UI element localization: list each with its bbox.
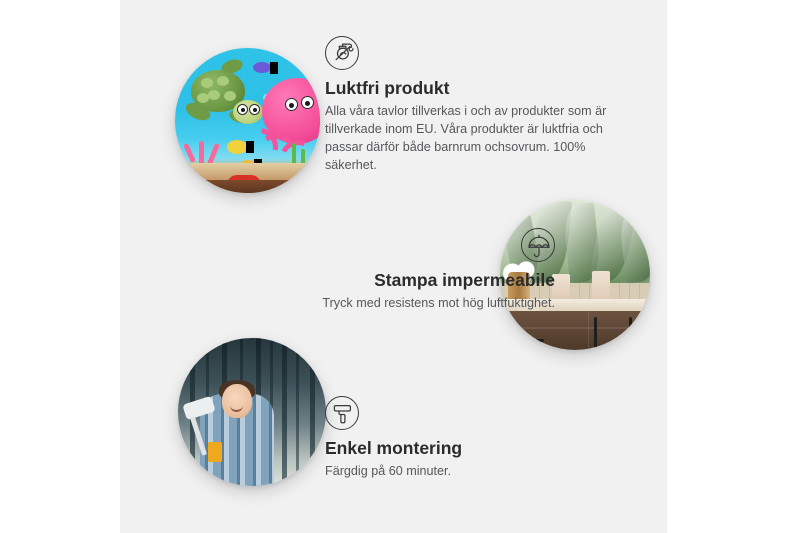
no-odor-spray-bottle-icon — [325, 36, 359, 70]
feature-description: Alla våra tavlor tillverkas i och av pro… — [325, 103, 627, 175]
feature-title: Enkel montering — [325, 438, 625, 460]
feature-description: Tryck med resistens mot hög luftfuktighe… — [205, 295, 555, 313]
paint-roller-icon — [325, 396, 359, 430]
feature-block-odorfree: Luktfri produkt Alla våra tavlor tillver… — [325, 36, 627, 174]
feature-block-waterproof: Stampa impermeabile Tryck med resistens … — [205, 228, 555, 313]
underwater-scene-art — [175, 48, 320, 193]
feature-title: Luktfri produkt — [325, 78, 627, 100]
feature-block-easyinstall: Enkel montering Färgdig på 60 minuter. — [325, 396, 625, 481]
medallion-image-forest — [178, 338, 326, 486]
medallion-image-sea — [175, 48, 320, 193]
painter-forest-art — [178, 338, 326, 486]
feature-description: Färgdig på 60 minuter. — [325, 463, 625, 481]
infographic-canvas: Luktfri produkt Alla våra tavlor tillver… — [0, 0, 800, 533]
feature-panel: Luktfri produkt Alla våra tavlor tillver… — [120, 0, 667, 533]
umbrella-icon — [521, 228, 555, 262]
feature-title: Stampa impermeabile — [205, 270, 555, 292]
